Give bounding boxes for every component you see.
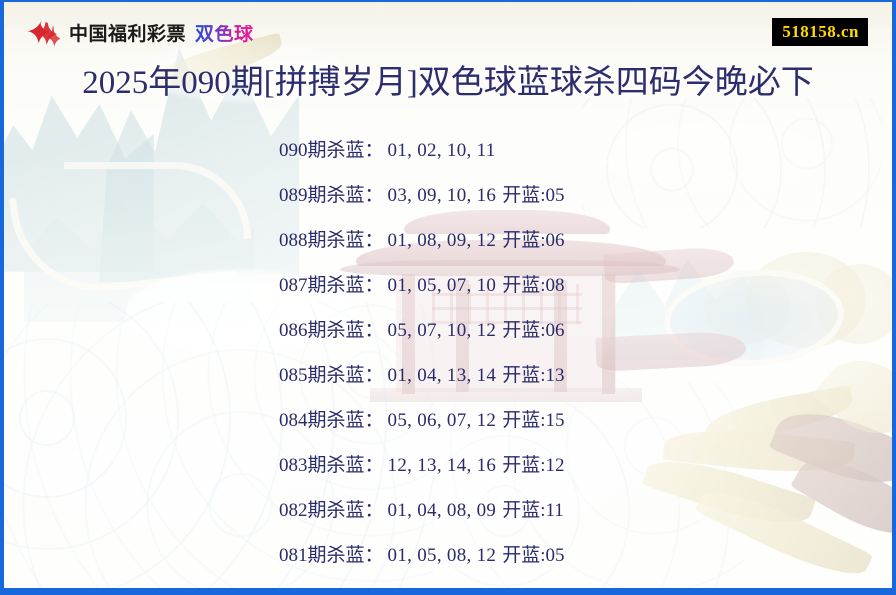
lottery-forecast-image: 中国福利彩票 双色球 518158.cn 2025年090期[拼搏岁月]双色球蓝… [0,0,896,595]
list-item: 081期杀蓝：01, 05, 08, 12开蓝:05 [4,533,892,578]
killed-numbers: 05, 07, 10, 12 [388,320,497,341]
issue-label: 090期杀蓝： [279,140,384,161]
killed-numbers: 01, 05, 08, 12 [388,545,497,566]
list-item: 090期杀蓝：01, 02, 10, 11 [4,128,892,173]
list-item: 088期杀蓝：01, 08, 09, 12开蓝:06 [4,218,892,263]
issue-label: 089期杀蓝： [279,185,384,206]
list-item: 083期杀蓝：12, 13, 14, 16开蓝:12 [4,443,892,488]
forecast-list: 090期杀蓝：01, 02, 10, 11 089期杀蓝：03, 09, 10,… [4,128,892,578]
game-name-label: 双色球 [195,25,254,44]
issue-label: 087期杀蓝： [279,275,384,296]
list-item: 086期杀蓝：05, 07, 10, 12开蓝:06 [4,308,892,353]
issue-label: 083期杀蓝： [279,455,384,476]
drawn-blue-ball: 开蓝:13 [502,365,564,386]
list-item: 087期杀蓝：01, 05, 07, 10开蓝:08 [4,263,892,308]
drawn-blue-ball: 开蓝:05 [502,185,564,206]
drawn-blue-ball: 开蓝:06 [502,320,564,341]
killed-numbers: 01, 05, 07, 10 [388,275,497,296]
killed-numbers: 12, 13, 14, 16 [388,455,497,476]
china-welfare-lottery-emblem-icon [28,19,60,49]
site-watermark-badge: 518158.cn [772,18,868,46]
issue-label: 081期杀蓝： [279,545,384,566]
issue-label: 085期杀蓝： [279,365,384,386]
list-item: 084期杀蓝：05, 06, 07, 12开蓝:15 [4,398,892,443]
issue-label: 088期杀蓝： [279,230,384,251]
drawn-blue-ball: 开蓝:06 [502,230,564,251]
issue-label: 086期杀蓝： [279,320,384,341]
list-item: 082期杀蓝：01, 04, 08, 09开蓝:11 [4,488,892,533]
killed-numbers: 01, 04, 13, 14 [388,365,497,386]
brand-name-label: 中国福利彩票 [69,25,186,44]
killed-numbers: 01, 08, 09, 12 [388,230,497,251]
list-item: 089期杀蓝：03, 09, 10, 16开蓝:05 [4,173,892,218]
issue-label: 082期杀蓝： [279,500,384,521]
drawn-blue-ball: 开蓝:11 [502,500,564,521]
page-title: 2025年090期[拼搏岁月]双色球蓝球杀四码今晚必下 [4,62,892,104]
drawn-blue-ball: 开蓝:05 [502,545,564,566]
list-item: 085期杀蓝：01, 04, 13, 14开蓝:13 [4,353,892,398]
drawn-blue-ball: 开蓝:12 [502,455,564,476]
killed-numbers: 01, 04, 08, 09 [388,500,497,521]
drawn-blue-ball: 开蓝:08 [502,275,564,296]
issue-label: 084期杀蓝： [279,410,384,431]
brand-logo: 中国福利彩票 双色球 [28,19,254,49]
killed-numbers: 05, 06, 07, 12 [388,410,497,431]
site-watermark-text: 518158.cn [782,22,859,41]
header: 中国福利彩票 双色球 518158.cn [4,2,892,57]
killed-numbers: 03, 09, 10, 16 [388,185,497,206]
drawn-blue-ball: 开蓝:15 [502,410,564,431]
killed-numbers: 01, 02, 10, 11 [388,140,496,161]
